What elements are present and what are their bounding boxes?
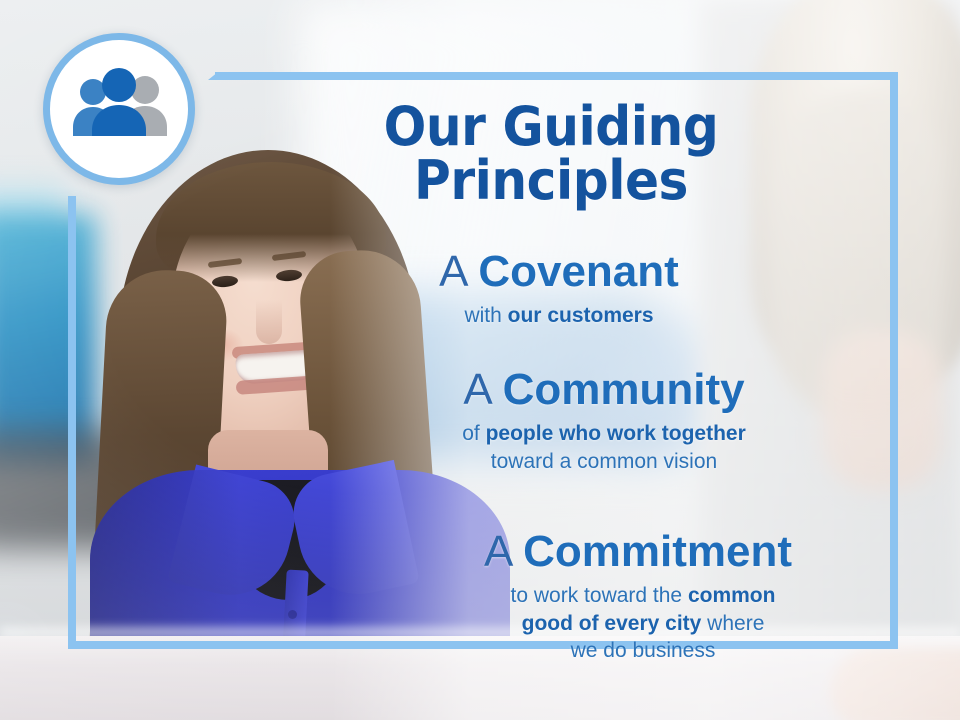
- principle-sub-prefix: of: [462, 422, 485, 445]
- principle-subtext: to work toward the common good of every …: [200, 582, 900, 665]
- principle-keyword: Commitment: [523, 527, 792, 576]
- principle-sub-emphasis: people who work together: [486, 422, 746, 445]
- principle-article: A: [484, 527, 511, 576]
- principle-covenant: A Covenant with our customers: [200, 250, 900, 330]
- principle-subtext: of people who work together toward a com…: [200, 420, 900, 475]
- people-group-icon: [65, 68, 173, 150]
- principle-sub-line2-emphasis: good of every city: [522, 612, 702, 635]
- principle-keyword: Covenant: [478, 247, 678, 296]
- principle-keyword: Community: [503, 365, 745, 414]
- principle-subtext: with our customers: [200, 302, 900, 330]
- principle-sub-line3: we do business: [571, 639, 716, 662]
- principle-headline: A Covenant: [200, 250, 900, 295]
- principle-commitment: A Commitment to work toward the common g…: [200, 530, 900, 665]
- poster-canvas: FLOW FLOW: [0, 0, 960, 720]
- text-content: Our Guiding Principles A Covenant with o…: [200, 72, 900, 650]
- principle-sub-line2-suffix: where: [701, 612, 764, 635]
- principle-sub-emphasis: our customers: [508, 304, 654, 327]
- principle-sub-line2: toward a common vision: [491, 450, 717, 473]
- people-badge: [43, 33, 195, 185]
- principle-community: A Community of people who work together …: [200, 368, 900, 475]
- principle-sub-prefix: to work toward the: [511, 584, 688, 607]
- principle-headline: A Community: [200, 368, 900, 413]
- principle-article: A: [463, 365, 490, 414]
- page-title: Our Guiding Principles: [239, 100, 862, 208]
- principle-sub-prefix: with: [464, 304, 507, 327]
- principle-article: A: [439, 247, 466, 296]
- principle-headline: A Commitment: [200, 530, 900, 575]
- principle-sub-emphasis: common: [688, 584, 776, 607]
